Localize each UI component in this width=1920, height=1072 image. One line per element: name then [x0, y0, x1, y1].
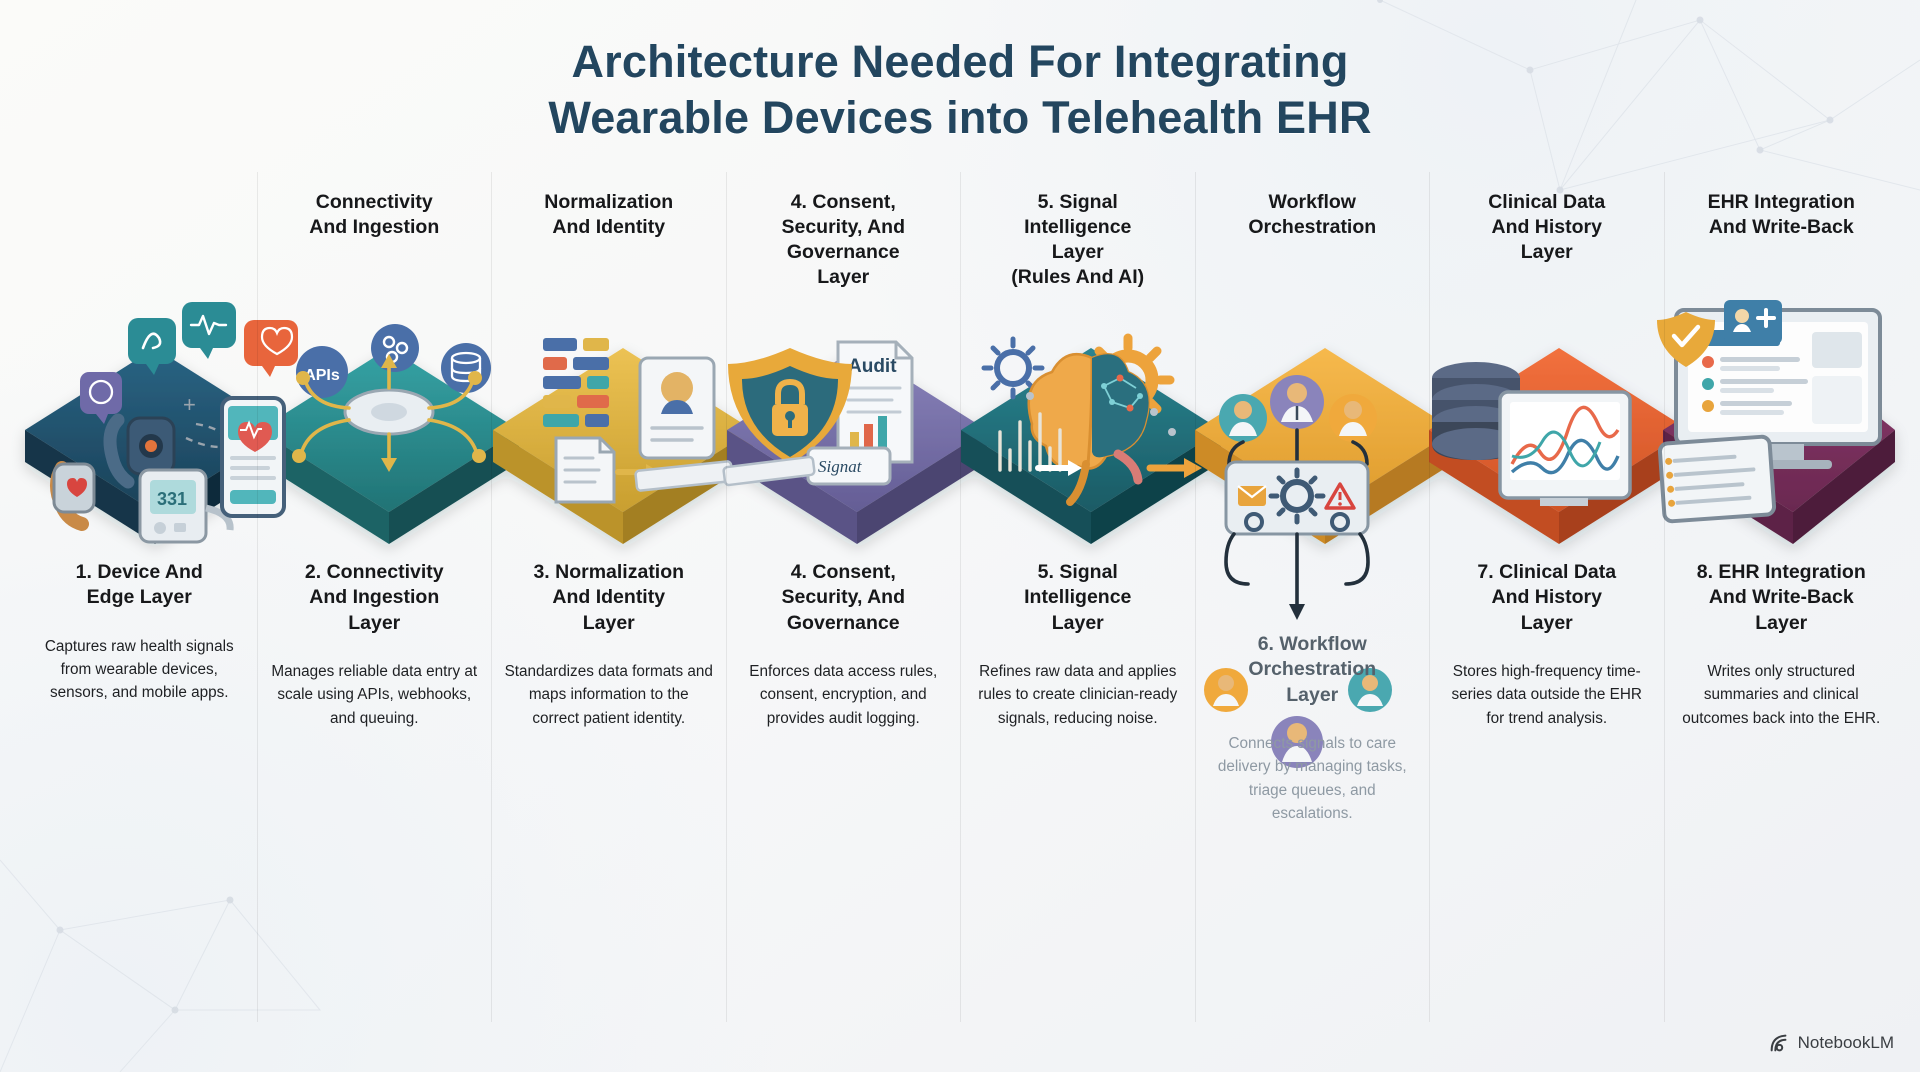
column-7-body: 7. Clinical DataAnd HistoryLayer Stores …	[1434, 560, 1660, 730]
column-8-title: 8. EHR IntegrationAnd Write-BackLayer	[1669, 560, 1895, 636]
page-title-line-1: Architecture Needed For Integrating	[571, 36, 1348, 87]
column-2-title: 2. ConnectivityAnd IngestionLayer	[262, 560, 488, 636]
column-5: 5. SignalIntelligenceLayer(Rules And AI)…	[960, 172, 1195, 1022]
column-3-title: 3. NormalizationAnd IdentityLayer	[496, 560, 722, 636]
column-8-body: 8. EHR IntegrationAnd Write-BackLayer Wr…	[1669, 560, 1895, 730]
column-6-header: WorkflowOrchestration	[1204, 190, 1422, 240]
column-1: 1. Device AndEdge Layer Captures raw hea…	[22, 172, 257, 1022]
column-7-header: Clinical DataAnd HistoryLayer	[1438, 190, 1656, 265]
column-4-body: 4. Consent,Security, AndGovernance Enfor…	[731, 560, 957, 730]
column-2-body: 2. ConnectivityAnd IngestionLayer Manage…	[262, 560, 488, 730]
column-1-title: 1. Device AndEdge Layer	[26, 560, 253, 611]
column-3: NormalizationAnd Identity 3. Normalizati…	[491, 172, 726, 1022]
column-2-description: Manages reliable data entry at scale usi…	[262, 660, 488, 730]
column-2: ConnectivityAnd Ingestion 2. Connectivit…	[257, 172, 492, 1022]
column-8-header: EHR IntegrationAnd Write-Back	[1673, 190, 1891, 240]
column-3-body: 3. NormalizationAnd IdentityLayer Standa…	[496, 560, 722, 730]
column-8-description: Writes only structured summaries and cli…	[1669, 660, 1895, 730]
column-6-description: Connects signals to care delivery by man…	[1200, 732, 1426, 825]
page-title-line-2: Wearable Devices into Telehealth EHR	[0, 90, 1920, 146]
column-grid: 1. Device AndEdge Layer Captures raw hea…	[22, 172, 1898, 1022]
notebooklm-icon	[1768, 1032, 1790, 1054]
column-3-description: Standardizes data formats and maps infor…	[496, 660, 722, 730]
column-4-description: Enforces data access rules, consent, enc…	[731, 660, 957, 730]
column-7: Clinical DataAnd HistoryLayer 7. Clinica…	[1429, 172, 1664, 1022]
column-4-header: 4. Consent,Security, AndGovernanceLayer	[735, 190, 953, 290]
column-7-title: 7. Clinical DataAnd HistoryLayer	[1434, 560, 1660, 636]
column-5-header: 5. SignalIntelligenceLayer(Rules And AI)	[969, 190, 1187, 290]
column-5-description: Refines raw data and applies rules to cr…	[965, 660, 1191, 730]
column-6-title: 6. WorkflowOrchestrationLayer	[1200, 632, 1426, 708]
column-2-header: ConnectivityAnd Ingestion	[266, 190, 484, 240]
column-4: 4. Consent,Security, AndGovernanceLayer …	[726, 172, 961, 1022]
column-6: WorkflowOrchestration 6. WorkflowOrchest…	[1195, 172, 1430, 1022]
column-4-title: 4. Consent,Security, AndGovernance	[731, 560, 957, 636]
column-6-body: 6. WorkflowOrchestrationLayer Connects s…	[1200, 632, 1426, 825]
page-title: Architecture Needed For Integrating Wear…	[0, 34, 1920, 146]
column-5-title: 5. SignalIntelligenceLayer	[965, 560, 1191, 636]
notebooklm-watermark: NotebookLM	[1768, 1032, 1894, 1054]
column-1-body: 1. Device AndEdge Layer Captures raw hea…	[26, 560, 253, 704]
infographic-canvas: Architecture Needed For Integrating Wear…	[0, 0, 1920, 1072]
column-7-description: Stores high-frequency time-series data o…	[1434, 660, 1660, 730]
column-3-header: NormalizationAnd Identity	[500, 190, 718, 240]
notebooklm-label: NotebookLM	[1798, 1033, 1894, 1053]
column-1-description: Captures raw health signals from wearabl…	[26, 635, 253, 705]
column-8: EHR IntegrationAnd Write-Back 8. EHR Int…	[1664, 172, 1899, 1022]
column-5-body: 5. SignalIntelligenceLayer Refines raw d…	[965, 560, 1191, 730]
